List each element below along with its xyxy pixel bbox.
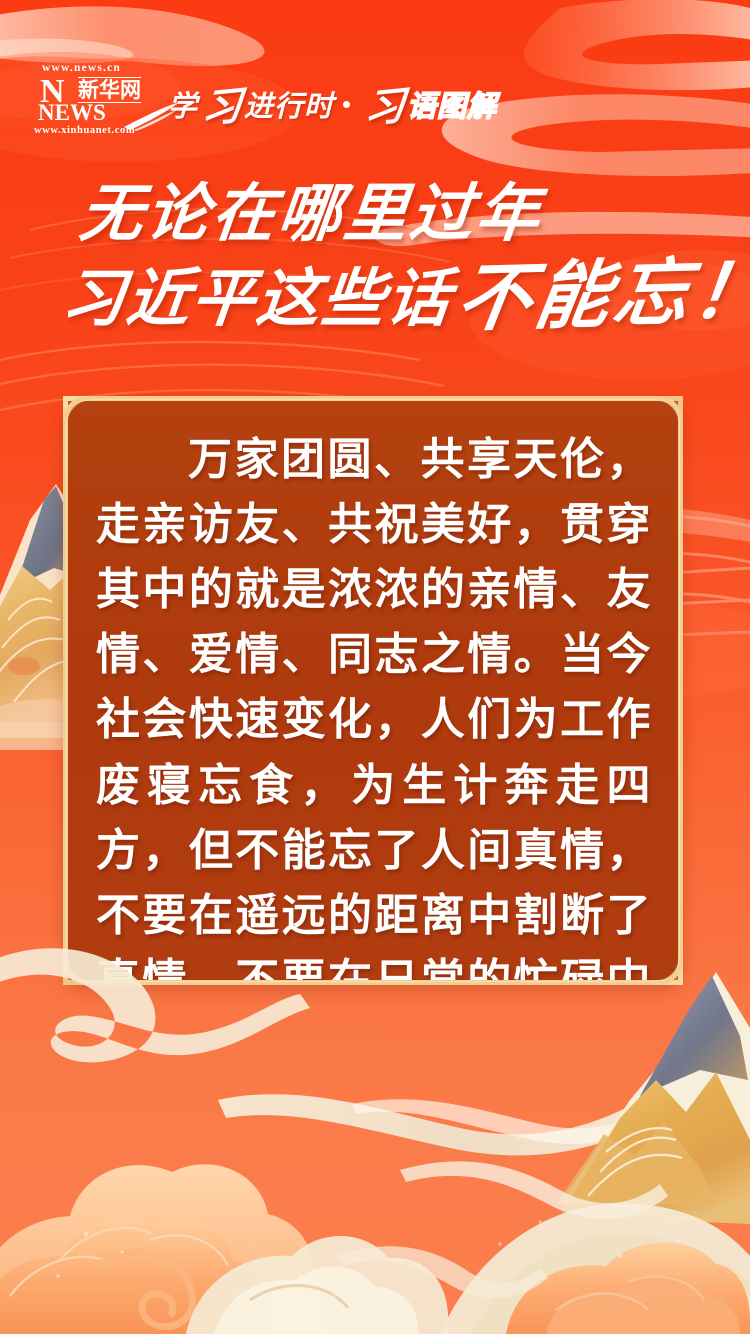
campaign-part2: 进行时 — [244, 83, 334, 125]
campaign-part3: 语图解 — [407, 83, 497, 125]
header-bar: www.news.cn N NEWS 新华网 www.xinhuanet.com… — [0, 0, 750, 160]
title-line-2-main: 习近平这些话 — [58, 264, 455, 334]
campaign-brush-xi-1: 习 — [200, 73, 245, 135]
title-line-2-emphasis: 不能忘！ — [452, 253, 750, 338]
page-title: 无论在哪里过年 习近平这些话不能忘！ — [0, 182, 750, 334]
campaign-tag[interactable]: 学 习 进行时 习 语图解 — [168, 78, 497, 130]
xinhua-logo[interactable]: www.news.cn N NEWS 新华网 www.xinhuanet.com — [32, 62, 172, 138]
title-line-1: 无论在哪里过年 — [0, 182, 750, 248]
campaign-brush-xi-2: 习 — [363, 73, 408, 135]
quote-body-text: 万家团圆、共享天伦，走亲访友、共祝美好，贯穿其中的就是浓浓的亲情、友情、爱情、同… — [96, 427, 652, 985]
poster-canvas: www.news.cn N NEWS 新华网 www.xinhuanet.com… — [0, 0, 750, 1334]
quote-card: 万家团圆、共享天伦，走亲访友、共祝美好，贯穿其中的就是浓浓的亲情、友情、爱情、同… — [63, 396, 683, 985]
logo-mark: N NEWS 新华网 — [36, 75, 172, 125]
logo-url-bottom: www.xinhuanet.com — [34, 125, 135, 136]
title-line-2: 习近平这些话不能忘！ — [0, 258, 750, 335]
campaign-part1: 学 — [168, 83, 198, 125]
logo-word-news: NEWS — [38, 101, 106, 124]
dot-separator-icon — [343, 101, 350, 108]
quote-card-inner: 万家团圆、共享天伦，走亲访友、共祝美好，贯穿其中的就是浓浓的亲情、友情、爱情、同… — [68, 401, 678, 980]
